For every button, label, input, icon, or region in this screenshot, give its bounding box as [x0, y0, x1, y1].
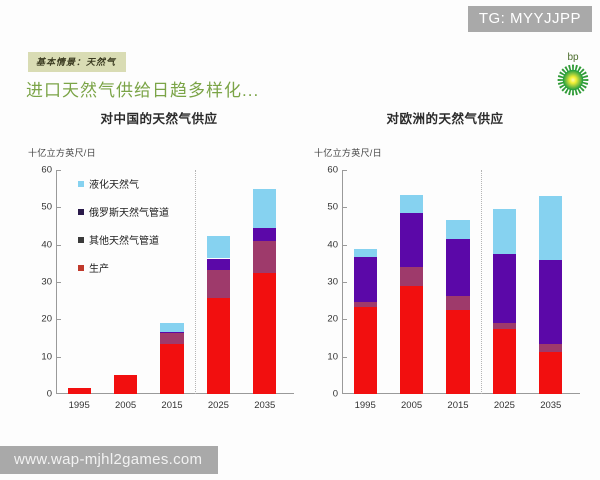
bar-segment-russia[interactable] [354, 257, 377, 302]
y-axis-tick-mark [57, 170, 61, 171]
bar-segment-other[interactable] [446, 296, 469, 309]
x-axis-tick-label: 2015 [447, 400, 468, 411]
bar-segment-russia[interactable] [493, 254, 516, 323]
y-axis-tick-label: 20 [312, 314, 338, 325]
bar-segment-russia[interactable] [446, 239, 469, 296]
legend-label-prod: 生产 [89, 260, 109, 275]
slide-canvas: TG: MYYJJPP bp [0, 0, 600, 480]
x-axis-tick-label: 2025 [494, 400, 515, 411]
bar-segment-lng[interactable] [253, 189, 276, 228]
bar-segment-russia[interactable] [160, 332, 183, 333]
bar-group[interactable]: 2005 [400, 170, 423, 394]
y-axis-tick-mark [57, 319, 61, 320]
bar-segment-other[interactable] [493, 323, 516, 329]
y-axis-tick-mark [343, 282, 347, 283]
bp-logo-text: bp [553, 53, 593, 63]
y-axis-tick-mark [57, 357, 61, 358]
chart-panel-europe: 对欧洲的天然气供应 十亿立方英尺/日 010203040506019952005… [300, 108, 590, 428]
bar-segment-prod[interactable] [493, 329, 516, 394]
x-axis-tick-label: 2015 [161, 400, 182, 411]
y-axis-tick-label: 60 [26, 165, 52, 176]
bar-group[interactable]: 2035 [539, 170, 562, 394]
y-axis-tick-mark [343, 357, 347, 358]
y-axis-unit-europe: 十亿立方英尺/日 [314, 146, 382, 159]
y-axis-tick-mark [343, 207, 347, 208]
bar-segment-prod[interactable] [68, 388, 91, 394]
kicker-tag: 基本情景：天然气 [28, 52, 126, 72]
chart-panel-china: 对中国的天然气供应 十亿立方英尺/日 液化天然气 俄罗斯天然气管道 其他天然气管… [14, 108, 304, 428]
site-watermark: www.wap-mjhl2games.com [0, 446, 218, 474]
y-axis-tick-label: 0 [312, 389, 338, 400]
bar-segment-other[interactable] [207, 270, 230, 298]
bar-segment-other[interactable] [253, 241, 276, 273]
bar-group[interactable]: 2015 [446, 170, 469, 394]
y-axis-tick-label: 50 [26, 202, 52, 213]
y-axis-tick-mark [57, 282, 61, 283]
y-axis-tick-mark [343, 319, 347, 320]
bar-group[interactable]: 2015 [160, 170, 183, 394]
y-axis-tick-label: 40 [312, 239, 338, 250]
y-axis-tick-label: 60 [312, 165, 338, 176]
x-axis-tick-label: 2035 [540, 400, 561, 411]
bar-segment-other[interactable] [539, 344, 562, 351]
bp-logo: bp [553, 53, 593, 99]
bar-segment-russia[interactable] [207, 259, 230, 270]
bar-group[interactable]: 1995 [68, 170, 91, 394]
plot-area-china: 液化天然气 俄罗斯天然气管道 其他天然气管道 生产 01020304050601… [56, 170, 288, 394]
bar-segment-prod[interactable] [354, 307, 377, 394]
bar-segment-prod[interactable] [207, 298, 230, 394]
y-axis-tick-label: 30 [312, 277, 338, 288]
chart-title-china: 对中国的天然气供应 [14, 108, 304, 127]
bar-segment-russia[interactable] [539, 260, 562, 345]
bar-segment-prod[interactable] [446, 310, 469, 394]
bar-segment-prod[interactable] [400, 286, 423, 394]
bar-segment-other[interactable] [400, 267, 423, 286]
bar-segment-lng[interactable] [160, 323, 183, 332]
x-axis-tick-label: 2035 [254, 400, 275, 411]
y-axis-tick-label: 0 [26, 389, 52, 400]
bar-segment-other[interactable] [160, 333, 183, 344]
y-axis-tick-label: 10 [312, 351, 338, 362]
bar-segment-prod[interactable] [114, 375, 137, 394]
bar-segment-russia[interactable] [400, 213, 423, 267]
bar-segment-russia[interactable] [253, 228, 276, 241]
bar-group[interactable]: 2035 [253, 170, 276, 394]
bar-segment-lng[interactable] [539, 196, 562, 259]
y-axis-tick-label: 20 [26, 314, 52, 325]
bar-segment-prod[interactable] [253, 273, 276, 394]
x-axis-tick-label: 1995 [355, 400, 376, 411]
y-axis-tick-mark [343, 170, 347, 171]
x-axis-tick-label: 2005 [401, 400, 422, 411]
tg-watermark: TG: MYYJJPP [468, 6, 592, 32]
bar-segment-lng[interactable] [493, 209, 516, 254]
page-title: 进口天然气供给日趋多样化... [26, 76, 259, 101]
bp-helios-icon [557, 64, 589, 96]
bar-segment-lng[interactable] [446, 220, 469, 239]
forecast-divider [481, 170, 482, 394]
bar-segment-lng[interactable] [354, 249, 377, 257]
forecast-divider [195, 170, 196, 394]
bar-segment-lng[interactable] [400, 195, 423, 213]
y-axis-tick-label: 10 [26, 351, 52, 362]
bar-group[interactable]: 2025 [207, 170, 230, 394]
y-axis-tick-label: 30 [26, 277, 52, 288]
bar-segment-prod[interactable] [160, 344, 183, 394]
plot-area-europe: 010203040506019952005201520252035 [342, 170, 574, 394]
bar-group[interactable]: 2025 [493, 170, 516, 394]
y-axis-tick-mark [57, 245, 61, 246]
chart-title-europe: 对欧洲的天然气供应 [300, 108, 590, 127]
y-axis-tick-mark [343, 245, 347, 246]
bar-segment-lng[interactable] [207, 236, 230, 258]
x-axis-tick-label: 2005 [115, 400, 136, 411]
y-axis-tick-label: 50 [312, 202, 338, 213]
bar-group[interactable]: 1995 [354, 170, 377, 394]
x-axis-tick-label: 2025 [208, 400, 229, 411]
y-axis-tick-label: 40 [26, 239, 52, 250]
bar-segment-other[interactable] [354, 302, 377, 307]
y-axis-tick-mark [57, 207, 61, 208]
y-axis-unit-china: 十亿立方英尺/日 [28, 146, 96, 159]
bar-segment-prod[interactable] [539, 352, 562, 394]
x-axis-tick-label: 1995 [69, 400, 90, 411]
bar-group[interactable]: 2005 [114, 170, 137, 394]
